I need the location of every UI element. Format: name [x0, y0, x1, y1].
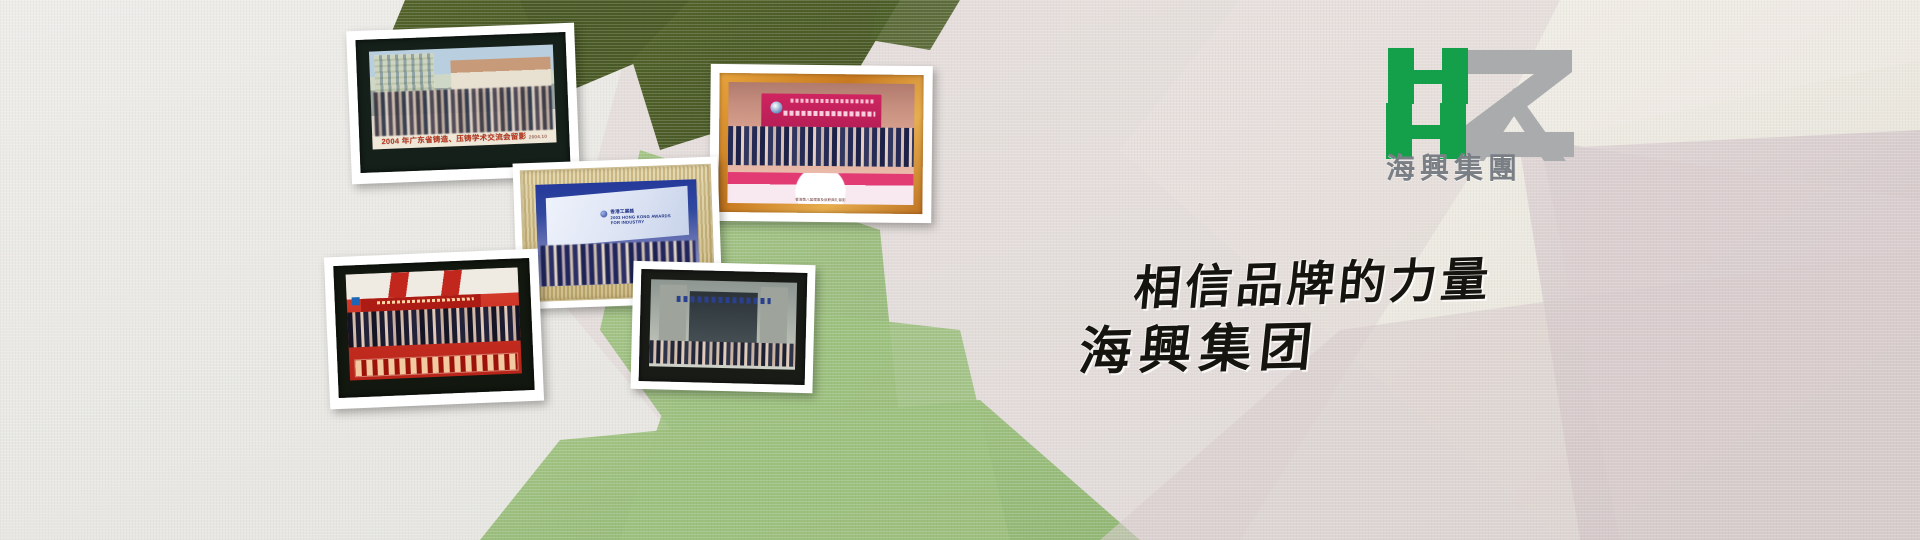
- crowd: [649, 340, 796, 366]
- photo-mat: [639, 269, 808, 385]
- banner-text-line1: [790, 99, 873, 104]
- logo-marks: [1386, 46, 1581, 161]
- organization-logo-icon: [352, 298, 360, 306]
- photo-building-entrance: [630, 261, 815, 393]
- crowd: [347, 306, 521, 348]
- slogan-calligraphy: 相信品牌的力量 海興集团: [1080, 245, 1520, 395]
- photo-image: 2004 年广东省铸造、压铸学术交流会留影 2004.10: [369, 44, 557, 149]
- slogan-line-2: 海興集团: [1076, 304, 1324, 384]
- photo-image: 香港第八届理事及就职典礼留影: [727, 82, 914, 205]
- logo-company-name: 海興集團: [1386, 154, 1581, 183]
- hk-awards-text: 香港工業獎 2003 HONG KONG AWARDS FOR INDUSTRY: [610, 206, 691, 226]
- stage-banner: [762, 93, 881, 127]
- background-shapes: [0, 0, 1920, 540]
- crowd: [374, 86, 553, 136]
- photo-pink-banner-ceremony: 香港第八届理事及就职典礼留影: [709, 64, 933, 223]
- photo-wood-frame: 香港第八届理事及就职典礼留影: [718, 73, 923, 214]
- name-list-strip: [354, 352, 519, 377]
- ceiling: [345, 268, 518, 299]
- company-logo[interactable]: 海興集團: [1386, 46, 1581, 198]
- photo-mat: [333, 258, 534, 398]
- association-emblem-icon: [770, 102, 782, 114]
- hero-banner: 2004 年广东省铸造、压铸学术交流会留影 2004.10 香港第八届理事及就职…: [0, 0, 1920, 540]
- photo-red-banner-2014: [324, 249, 544, 410]
- crowd: [728, 126, 914, 168]
- photo-image: [649, 279, 797, 370]
- photo-image: [345, 268, 522, 381]
- logo-hh-icon: [1386, 46, 1496, 161]
- photo-caption-date: 2004.10: [529, 134, 548, 140]
- photo-guangdong-2004: 2004 年广东省铸造、压铸学术交流会留影 2004.10: [346, 23, 580, 185]
- pillar-right: [759, 287, 788, 351]
- pillar-left: [658, 285, 687, 349]
- banner-text-line2: [783, 110, 875, 116]
- photo-mat: 2004 年广东省铸造、压铸学术交流会留影 2004.10: [355, 32, 570, 173]
